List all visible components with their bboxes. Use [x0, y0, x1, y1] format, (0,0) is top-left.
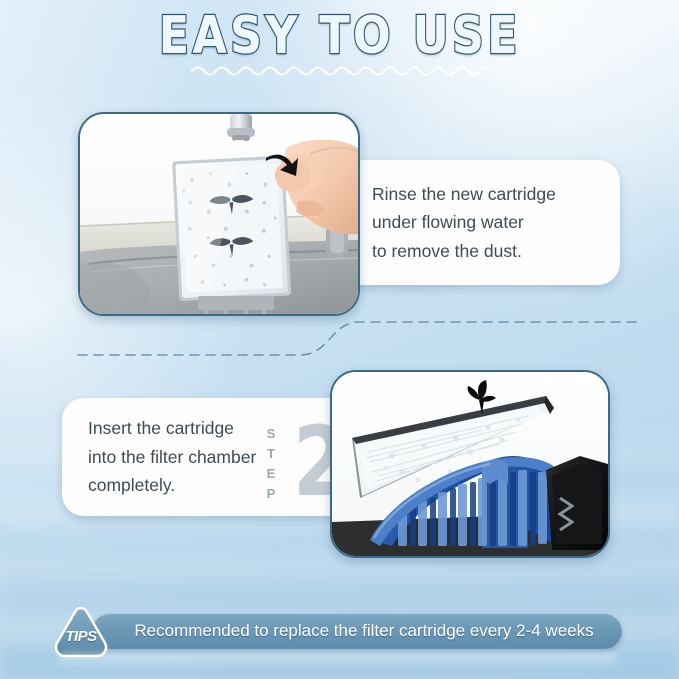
tips-badge: TIPS	[52, 605, 110, 659]
step-1-illustration	[80, 114, 358, 314]
step-1-line-3: to remove the dust.	[372, 237, 556, 265]
tips-text: Recommended to replace the filter cartri…	[120, 621, 593, 641]
step-2-illustration	[332, 372, 608, 556]
page-title-wrap: EASY TO USE	[0, 14, 679, 58]
step-1-line-2: under flowing water	[372, 208, 556, 236]
step-2-line-3: completely.	[88, 471, 256, 499]
step-1-line-1: Rinse the new cartridge	[372, 180, 556, 208]
tips-reflection	[58, 652, 618, 670]
step-2-step-label: STEP	[264, 424, 278, 505]
step-2-line-1: Insert the cartridge	[88, 414, 256, 442]
step-2-line-2: into the filter chamber	[88, 443, 256, 471]
infographic-root: EASY TO USE Rinse the new cartridge unde…	[0, 0, 679, 679]
tips-banner: Recommended to replace the filter cartri…	[92, 613, 622, 649]
step-2-text: Insert the cartridge into the filter cha…	[88, 414, 256, 499]
page-title: EASY TO USE	[159, 9, 521, 63]
step-1-text: Rinse the new cartridge under flowing wa…	[372, 180, 556, 265]
step-2-photo	[330, 370, 610, 558]
step-1-photo	[78, 112, 360, 316]
tips-badge-shape	[52, 605, 110, 659]
wave-divider	[0, 62, 679, 80]
